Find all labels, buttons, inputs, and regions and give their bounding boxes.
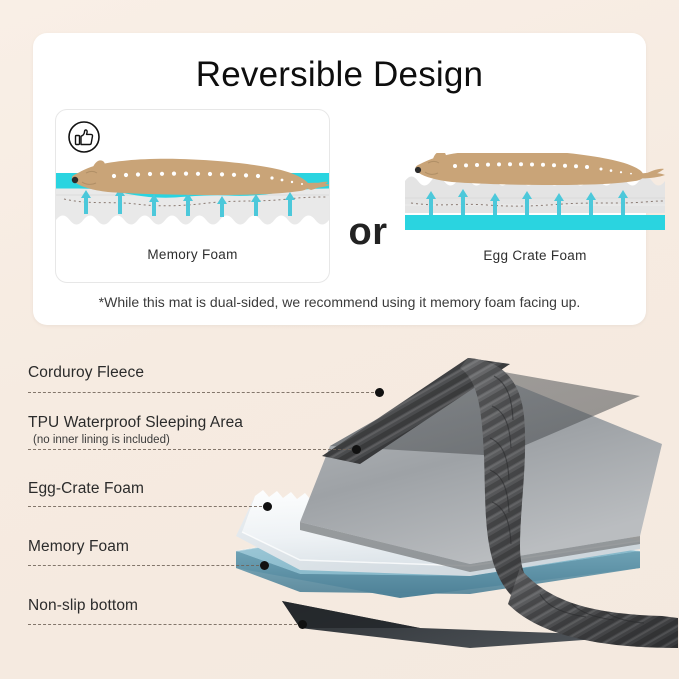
infographic-root: Reversible Design: [0, 0, 679, 679]
layer-label-memory-foam: Memory Foam: [28, 538, 129, 556]
leader-dot-tpu: [352, 445, 361, 454]
memory-foam-diagram: [56, 154, 329, 246]
leader-line-corduroy-fleece: [28, 392, 379, 393]
layer-label-tpu: TPU Waterproof Sleeping Area: [28, 414, 243, 432]
thumbs-up-icon: [67, 120, 101, 154]
layer-label-non-slip-bottom: Non-slip bottom: [28, 597, 138, 615]
leader-dot-memory-foam: [260, 561, 269, 570]
leader-dot-non-slip-bottom: [298, 620, 307, 629]
reversible-design-card: Reversible Design: [33, 33, 646, 325]
memory-foam-label: Memory Foam: [56, 247, 329, 262]
leader-dot-corduroy-fleece: [375, 388, 384, 397]
egg-crate-foam-label: Egg Crate Foam: [405, 248, 665, 263]
leader-line-non-slip-bottom: [28, 624, 302, 625]
page-title: Reversible Design: [33, 55, 646, 95]
layer-label-egg-crate-foam: Egg-Crate Foam: [28, 480, 144, 498]
leader-dot-egg-crate-foam: [263, 502, 272, 511]
dog-illustration-left: [72, 159, 329, 195]
dog-illustration-right: [415, 153, 665, 185]
leader-line-tpu: [28, 449, 356, 450]
layer-breakdown-diagram: Corduroy Fleece TPU Waterproof Sleeping …: [0, 336, 679, 679]
or-separator: or: [333, 211, 403, 254]
leader-line-egg-crate-foam: [28, 506, 267, 507]
footnote-text: *While this mat is dual-sided, we recomm…: [33, 294, 646, 310]
leader-line-memory-foam: [28, 565, 264, 566]
layer-sublabel-tpu: (no inner lining is included): [33, 434, 170, 446]
layer-label-corduroy-fleece: Corduroy Fleece: [28, 364, 144, 382]
memory-foam-panel: Memory Foam: [55, 109, 330, 283]
egg-crate-foam-diagram: [405, 153, 665, 245]
